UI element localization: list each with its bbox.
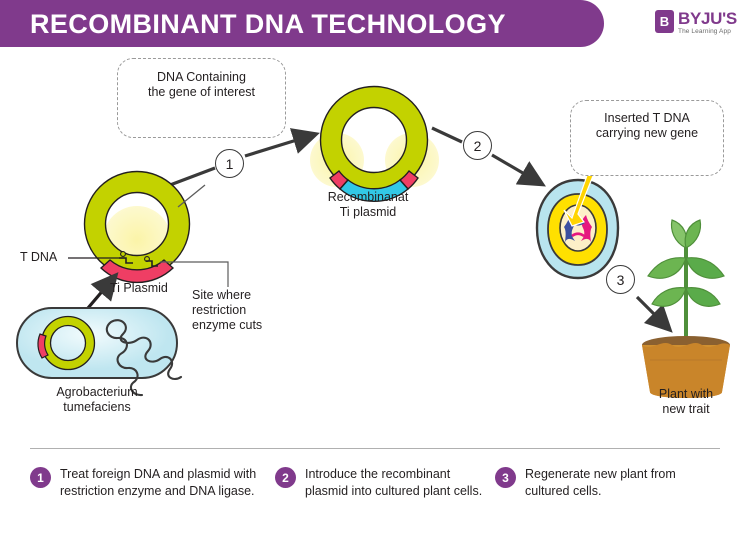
legend-item-3: 3 Regenerate new plant from cultured cel…: [495, 466, 710, 499]
label-recombinant-plasmid: RecombinanatTi plasmid: [298, 190, 438, 220]
label-agrobacterium: Agrobacteriumtumefaciens: [22, 385, 172, 415]
plant-graphic: [642, 220, 730, 398]
callout-inserted-t-dna: Inserted T DNAcarrying new gene: [570, 100, 724, 176]
label-t-dna: T DNA: [20, 250, 57, 265]
step-marker-2: 2: [463, 131, 492, 160]
footer-divider: [30, 448, 720, 449]
agrobacterium-cell: [17, 308, 181, 395]
callout-dna-gene-of-interest: DNA Containingthe gene of interest: [117, 58, 286, 138]
label-restriction-site: Site whererestrictionenzyme cuts: [192, 288, 302, 332]
recombinant-plasmid-graphic: [310, 87, 439, 202]
label-ti-plasmid: Ti Plasmid: [110, 281, 168, 296]
step-marker-3: 3: [606, 265, 635, 294]
ti-plasmid-graphic: [85, 172, 190, 283]
callout-dna-title: DNA Containingthe gene of interest: [118, 70, 285, 100]
legend-item-2: 2 Introduce the recombinant plasmid into…: [275, 466, 495, 499]
callout-inserted-title: Inserted T DNAcarrying new gene: [571, 111, 723, 141]
legend-item-1: 1 Treat foreign DNA and plasmid with res…: [30, 466, 275, 499]
label-plant-new-trait: Plant withnew trait: [626, 387, 746, 417]
legend-text-1: Treat foreign DNA and plasmid with restr…: [60, 466, 275, 499]
legend-badge-3: 3: [495, 467, 516, 488]
legend-badge-1: 1: [30, 467, 51, 488]
diagram-svg: [0, 0, 750, 537]
legend-badge-2: 2: [275, 467, 296, 488]
legend: 1 Treat foreign DNA and plasmid with res…: [30, 466, 730, 499]
legend-text-2: Introduce the recombinant plasmid into c…: [305, 466, 495, 499]
step-marker-1: 1: [215, 149, 244, 178]
legend-text-3: Regenerate new plant from cultured cells…: [525, 466, 710, 499]
infographic-canvas: RECOMBINANT DNA TECHNOLOGY B BYJU'S The …: [0, 0, 750, 537]
